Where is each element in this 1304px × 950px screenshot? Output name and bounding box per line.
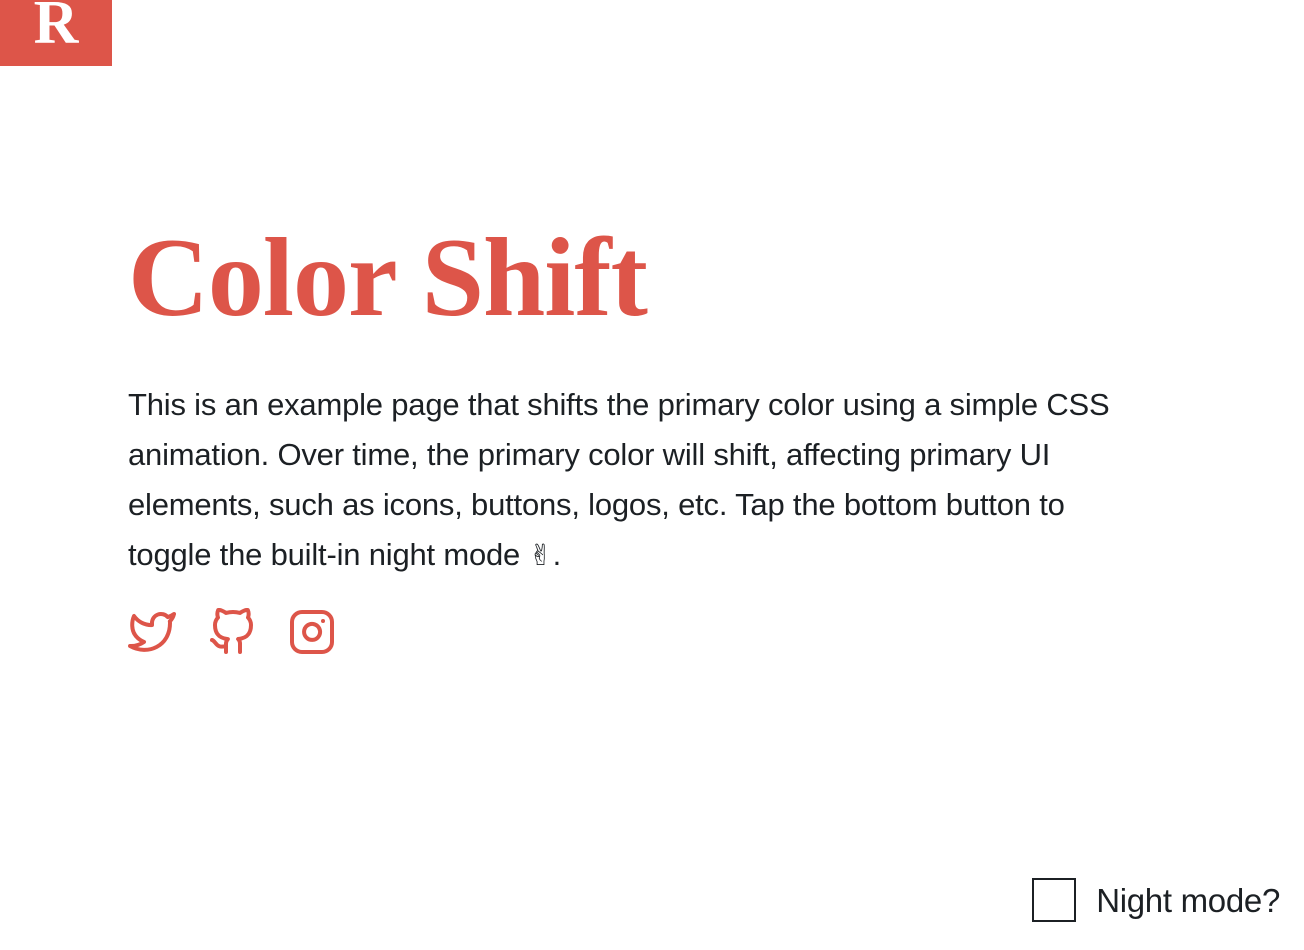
page-title: Color Shift [128, 0, 1138, 334]
social-link-github[interactable] [208, 608, 256, 656]
logo-badge[interactable]: R [0, 0, 112, 66]
social-link-twitter[interactable] [128, 608, 176, 656]
intro-paragraph-text: This is an example page that shifts the … [128, 387, 1110, 572]
main-content: Color Shift This is an example page that… [128, 0, 1138, 656]
intro-paragraph-period: . [553, 537, 561, 572]
social-link-instagram[interactable] [288, 608, 336, 656]
instagram-icon [288, 608, 336, 656]
logo-letter: R [34, 0, 79, 54]
night-mode-toggle[interactable]: Night mode? [1032, 878, 1280, 922]
github-icon [208, 608, 256, 656]
night-mode-label: Night mode? [1096, 884, 1280, 917]
intro-paragraph: This is an example page that shifts the … [128, 334, 1128, 580]
victory-hand-emoji: ✌ [529, 538, 553, 572]
night-mode-checkbox[interactable] [1032, 878, 1076, 922]
social-links [128, 580, 1138, 656]
twitter-icon [128, 608, 176, 656]
